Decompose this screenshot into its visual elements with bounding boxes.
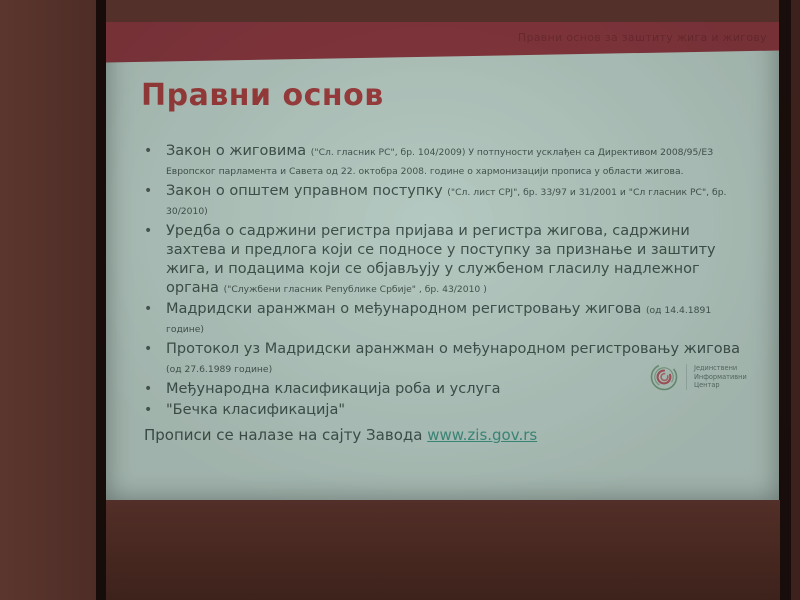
list-item-main: Закон о жиговима [166,143,306,159]
wall-right-panel [791,0,800,600]
list-item-text: Закон о жиговима ("Сл. гласник РС", бр. … [166,142,748,180]
list-item-note: (од 27.6.1989 године) [166,364,272,375]
zis-website-link[interactable]: www.zis.gov.rs [427,426,537,444]
list-item-main: Међународна класификација роба и услуга [166,381,501,397]
bullet-marker-icon: • [138,340,166,378]
list-item-main: Протокол уз Мадридски аранжман о међунар… [166,341,740,357]
screen-left-edge [96,0,106,600]
list-item-main: "Бечка класификација" [166,402,345,418]
logo-line-3: Центар [694,381,747,389]
list-item-note: ("Службени гласник Републике Србије" , б… [224,284,487,295]
bullet-marker-icon: • [138,300,166,338]
bullet-marker-icon: • [138,222,166,298]
screen-right-edge [779,0,791,600]
footer-note: Прописи се налазе на сајту Завода www.zi… [144,426,537,444]
slide-banner: Правни основ за заштиту жига и жигову [106,22,779,64]
list-item: • "Бечка класификација" [138,401,748,420]
list-item-text: Закон о општем управном поступку ("Сл. л… [166,182,748,220]
spiral-circle-icon [649,362,679,392]
list-item: • Мадридски аранжман о међународном реги… [138,300,748,338]
logo-wordmark: Јединствени Информативни Центар [686,364,747,389]
running-title: Правни основ за заштиту жига и жигову [518,31,767,44]
organization-logo: Јединствени Информативни Центар [649,362,747,392]
wall-left-panel [0,0,96,600]
projected-slide: Правни основ за заштиту жига и жигову Пр… [106,22,779,500]
list-item-text: Уредба о садржини регистра пријава и рег… [166,222,748,298]
list-item: • Закон о жиговима ("Сл. гласник РС", бр… [138,142,748,180]
page-title: Правни основ [141,78,384,113]
bullet-marker-icon: • [138,182,166,220]
logo-line-1: Јединствени [694,364,747,372]
list-item-text: "Бечка класификација" [166,401,748,420]
list-item-main: Мадридски аранжман о међународном регист… [166,301,641,317]
list-item-text: Мадридски аранжман о међународном регист… [166,300,748,338]
list-item: • Уредба о садржини регистра пријава и р… [138,222,748,298]
wall-below-screen [106,500,780,600]
list-item-main: Закон о општем управном поступку [166,183,443,199]
logo-line-2: Информативни [694,373,747,381]
bullet-marker-icon: • [138,401,166,420]
bullet-marker-icon: • [138,380,166,399]
list-item: • Закон о општем управном поступку ("Сл.… [138,182,748,220]
screenshot-stage: Правни основ за заштиту жига и жигову Пр… [0,0,800,600]
bullet-marker-icon: • [138,142,166,180]
footer-note-text: Прописи се налазе на сајту Завода [144,426,427,444]
